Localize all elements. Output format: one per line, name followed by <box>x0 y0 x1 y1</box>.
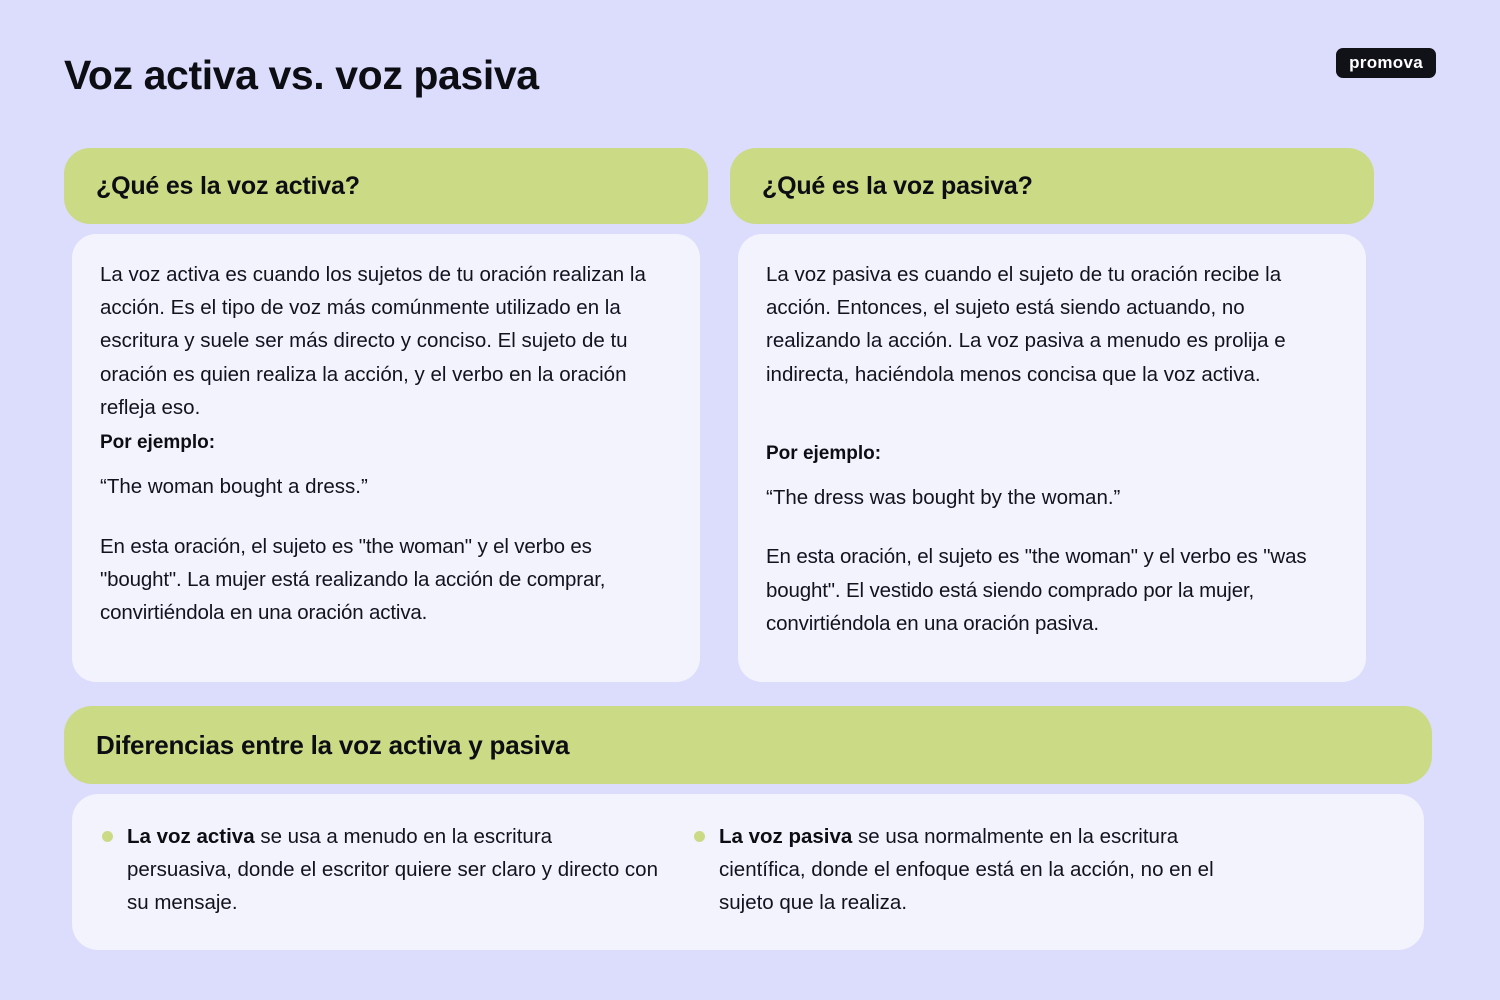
passive-voice-intro: La voz pasiva es cuando el sujeto de tu … <box>766 258 1338 391</box>
section-title-active-voice: ¿Qué es la voz activa? <box>96 172 360 201</box>
bullet-dot-icon <box>694 831 705 842</box>
list-item: La voz pasiva se usa normalmente en la e… <box>694 820 1250 920</box>
active-voice-example-quote: “The woman bought a dress.” <box>100 470 672 503</box>
section-title-passive-voice: ¿Qué es la voz pasiva? <box>762 172 1033 201</box>
section-header-differences: Diferencias entre la voz activa y pasiva <box>64 706 1432 784</box>
differences-section: Diferencias entre la voz activa y pasiva… <box>64 706 1432 950</box>
active-voice-example-label: Por ejemplo: <box>100 428 672 458</box>
comparison-columns: ¿Qué es la voz activa? La voz activa es … <box>64 148 1432 682</box>
list-item: La voz activa se usa a menudo en la escr… <box>102 820 658 920</box>
card-differences: La voz activa se usa a menudo en la escr… <box>72 794 1424 950</box>
passive-voice-example-label: Por ejemplo: <box>766 439 1338 469</box>
page-header: Voz activa vs. voz pasiva promova <box>0 0 1500 130</box>
difference-lead-passive: La voz pasiva <box>719 825 852 848</box>
spacer <box>100 458 672 470</box>
promova-logo: promova <box>1336 48 1436 78</box>
section-title-differences: Diferencias entre la voz activa y pasiva <box>96 730 569 761</box>
page-title: Voz activa vs. voz pasiva <box>64 52 539 99</box>
bullet-dot-icon <box>102 831 113 842</box>
difference-lead-active: La voz activa <box>127 825 255 848</box>
column-active-voice: ¿Qué es la voz activa? La voz activa es … <box>64 148 708 682</box>
section-header-active-voice: ¿Qué es la voz activa? <box>64 148 708 224</box>
column-passive-voice: ¿Qué es la voz pasiva? La voz pasiva es … <box>730 148 1374 682</box>
section-header-passive-voice: ¿Qué es la voz pasiva? <box>730 148 1374 224</box>
spacer <box>766 469 1338 481</box>
spacer <box>766 391 1338 435</box>
difference-text-passive: La voz pasiva se usa normalmente en la e… <box>719 820 1250 920</box>
passive-voice-explanation: En esta oración, el sujeto es "the woman… <box>766 540 1338 640</box>
spacer <box>766 514 1338 540</box>
spacer <box>100 504 672 530</box>
card-active-voice: La voz activa es cuando los sujetos de t… <box>72 234 700 682</box>
card-passive-voice: La voz pasiva es cuando el sujeto de tu … <box>738 234 1366 682</box>
passive-voice-example-quote: “The dress was bought by the woman.” <box>766 481 1338 514</box>
active-voice-explanation: En esta oración, el sujeto es "the woman… <box>100 530 672 630</box>
difference-text-active: La voz activa se usa a menudo en la escr… <box>127 820 658 920</box>
active-voice-intro: La voz activa es cuando los sujetos de t… <box>100 258 672 424</box>
